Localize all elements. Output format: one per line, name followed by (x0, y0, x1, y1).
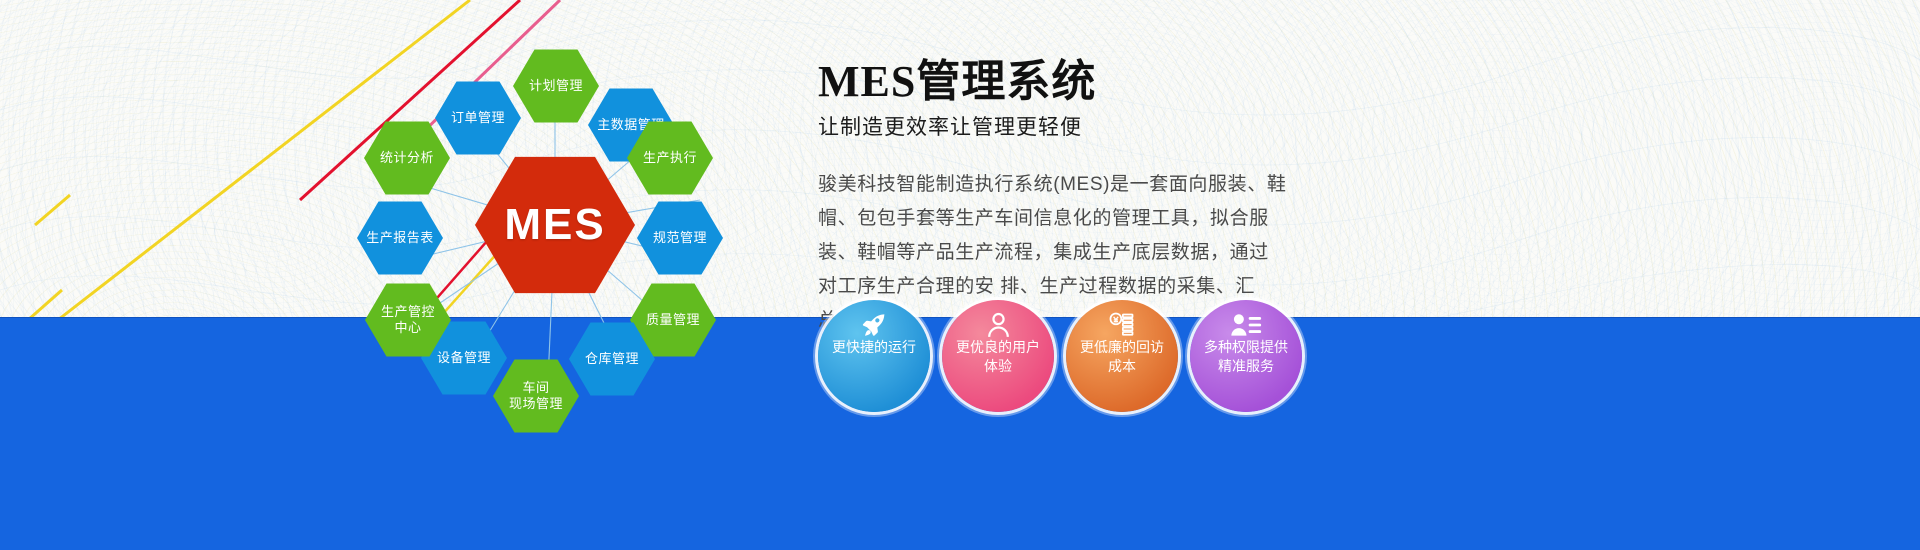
feature-badge-line1: 多种权限提供 (1204, 339, 1288, 355)
money-stack-icon (1066, 311, 1178, 339)
feature-badge-label: 多种权限提供 精准服务 (1196, 338, 1296, 376)
feature-badge-line1: 更低廉的回访 (1080, 339, 1164, 355)
user-permissions-icon (1190, 311, 1302, 339)
hexagon-node-label: 生产管控 中心 (381, 304, 435, 336)
feature-badge-label: 更低廉的回访 成本 (1072, 338, 1172, 376)
hexagon-node-label: 车间 现场管理 (509, 380, 563, 412)
feature-badge-list: 更快捷的运行 更优良的用户 体验 (818, 300, 1578, 430)
user-icon (942, 311, 1054, 339)
feature-badge-lower-cost[interactable]: 更低廉的回访 成本 (1066, 300, 1178, 412)
feature-badge-label: 更优良的用户 体验 (948, 338, 1048, 376)
feature-badge-line1: 更优良的用户 (956, 339, 1040, 355)
banner-stage: MES 计划管理 主数据管理 生产执行 规范管理 质量管理 仓库管理 车间 现场… (0, 0, 1920, 550)
banner-text-block: MES管理系统 让制造更效率让管理更轻便 骏美科技智能制造执行系统(MES)是一… (818, 56, 1588, 338)
page-title: MES管理系统 (818, 56, 1588, 108)
feature-badge-line2: 体验 (984, 358, 1012, 374)
feature-badge-multiple-permissions[interactable]: 多种权限提供 精准服务 (1190, 300, 1302, 412)
feature-badge-line2: 精准服务 (1218, 358, 1274, 374)
feature-badge-line2: 成本 (1108, 358, 1136, 374)
page-subtitle: 让制造更效率让管理更轻便 (818, 114, 1588, 142)
rocket-icon (818, 311, 930, 339)
feature-badge-label: 更快捷的运行 (824, 338, 924, 357)
mes-hexagon-diagram: MES 计划管理 主数据管理 生产执行 规范管理 质量管理 仓库管理 车间 现场… (330, 10, 790, 440)
feature-badge-better-user-experience[interactable]: 更优良的用户 体验 (942, 300, 1054, 412)
feature-badge-faster-operation[interactable]: 更快捷的运行 (818, 300, 930, 412)
